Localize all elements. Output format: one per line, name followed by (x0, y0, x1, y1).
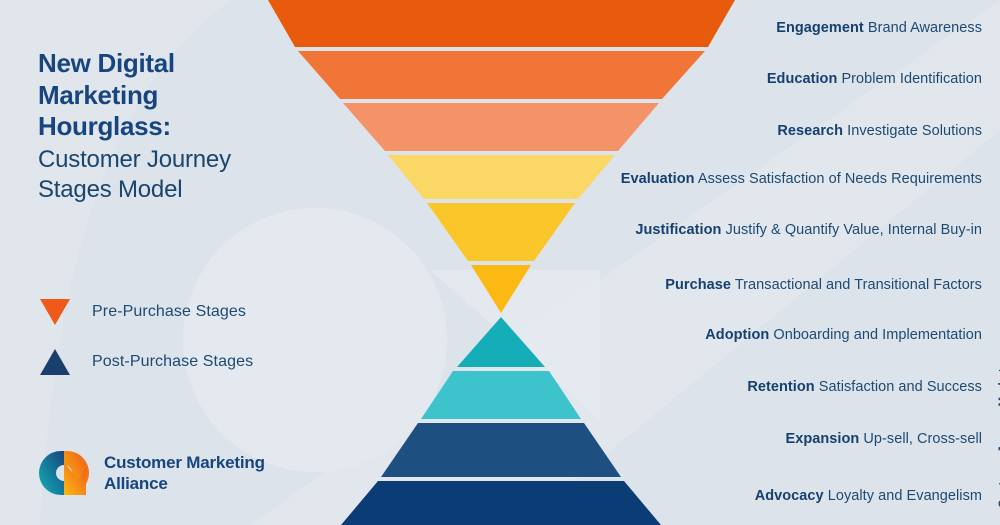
stage-label-expansion: Expansion Up-sell, Cross-sell (786, 431, 982, 447)
stage-description: Transactional and Transitional Factors (735, 277, 982, 293)
stage-description: Loyalty and Evangelism (828, 488, 982, 504)
stage-name: Retention (747, 379, 814, 395)
infographic-canvas: New Digital Marketing Hourglass: Custome… (0, 0, 1000, 525)
stage-name: Expansion (786, 431, 860, 447)
stage-name: Research (777, 123, 843, 139)
stage-name: Education (767, 71, 838, 87)
stage-description: Investigate Solutions (847, 123, 982, 139)
stage-description: Onboarding and Implementation (773, 327, 982, 343)
stage-description: Problem Identification (841, 71, 982, 87)
stage-label-research: Research Investigate Solutions (777, 123, 982, 139)
stage-description: Satisfaction and Success (819, 379, 982, 395)
stage-description: Justify & Quantify Value, Internal Buy-i… (726, 222, 982, 238)
stage-description: Brand Awareness (868, 20, 982, 36)
stage-name: Justification (635, 222, 721, 238)
stage-name: Engagement (776, 20, 864, 36)
stage-description: Assess Satisfaction of Needs Requirement… (698, 171, 982, 187)
stage-name: Adoption (705, 327, 769, 343)
stage-label-advocacy: Advocacy Loyalty and Evangelism (755, 488, 982, 504)
stage-label-retention: Retention Satisfaction and Success (747, 379, 982, 395)
stage-labels: Engagement Brand Awareness Education Pro… (0, 0, 1000, 525)
stage-label-justification: Justification Justify & Quantify Value, … (635, 222, 982, 238)
stage-description: Up-sell, Cross-sell (863, 431, 982, 447)
stage-label-adoption: Adoption Onboarding and Implementation (705, 327, 982, 343)
stage-label-evaluation: Evaluation Assess Satisfaction of Needs … (621, 171, 982, 187)
stage-label-engagement: Engagement Brand Awareness (776, 20, 982, 36)
stage-label-purchase: Purchase Transactional and Transitional … (665, 277, 982, 293)
stage-name: Evaluation (621, 171, 695, 187)
stage-name: Purchase (665, 277, 731, 293)
stage-name: Advocacy (755, 488, 824, 504)
stage-label-education: Education Problem Identification (767, 71, 982, 87)
